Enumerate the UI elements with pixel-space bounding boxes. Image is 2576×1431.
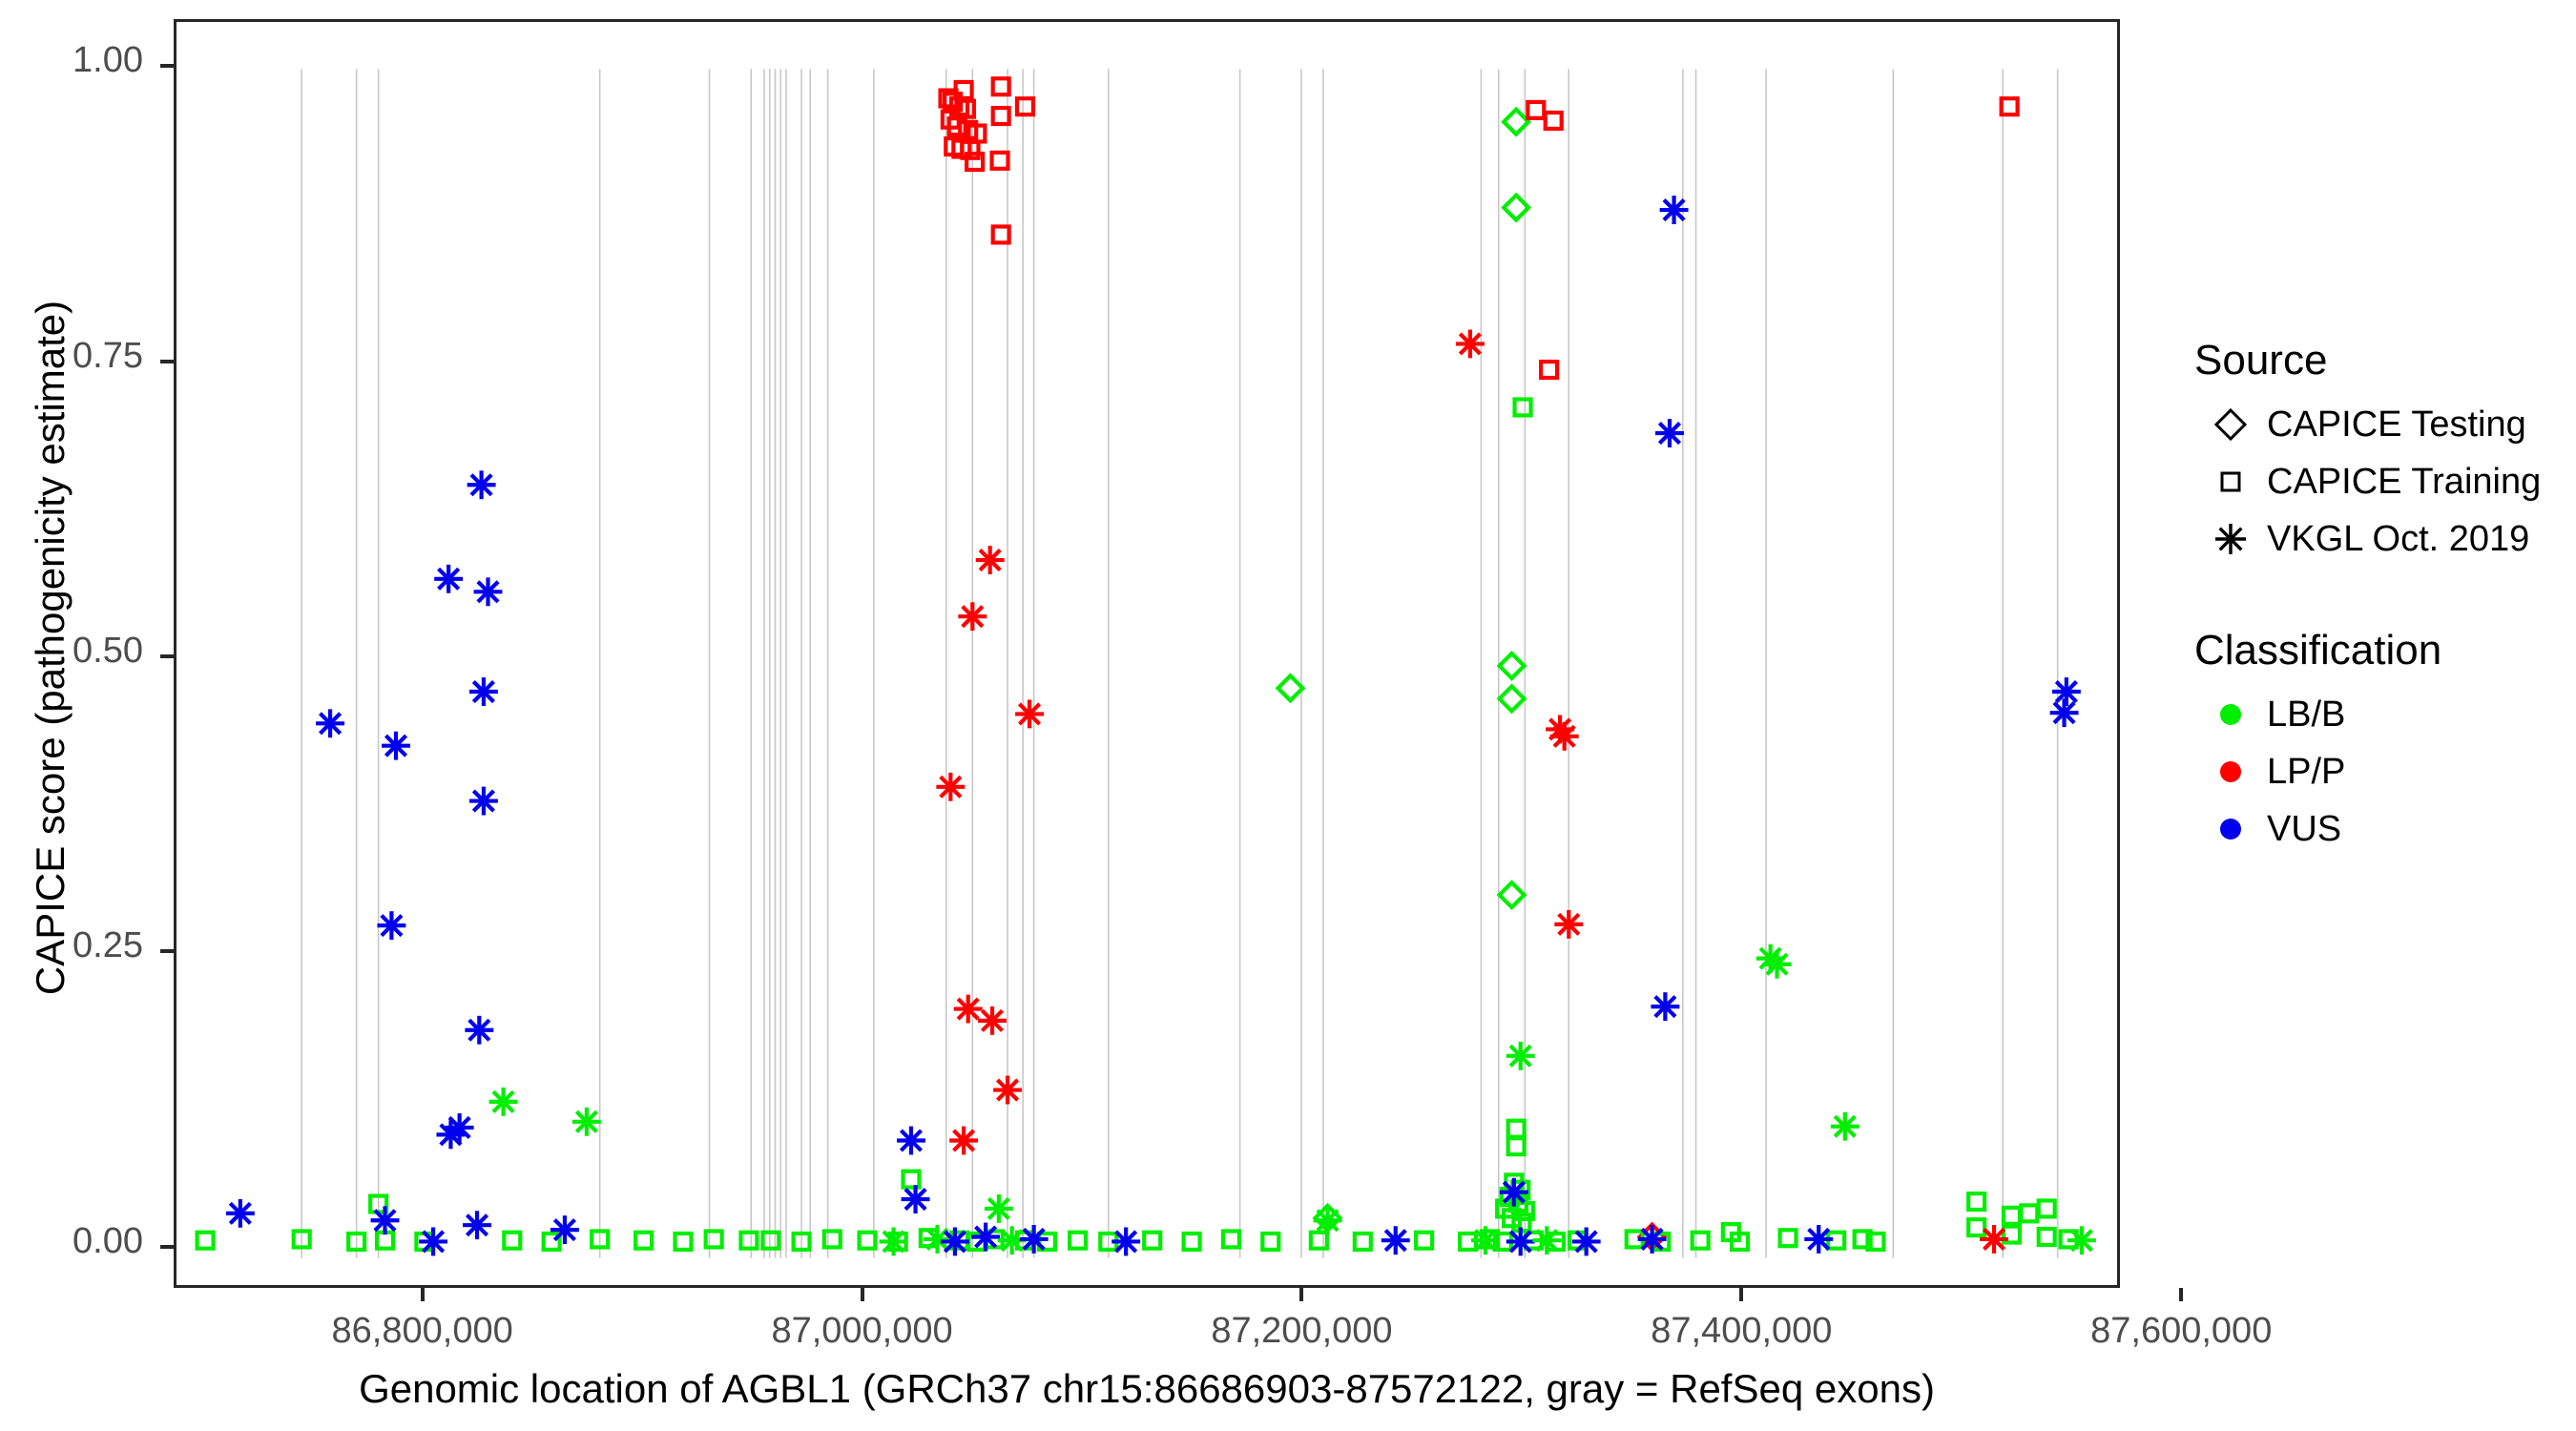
point-square (993, 226, 1009, 242)
point-square (1515, 400, 1531, 416)
legend-label-lb-b: LB/B (2267, 695, 2345, 736)
point-square (762, 1233, 779, 1249)
lp-p-color-dot-icon (2194, 751, 2267, 793)
point-square (635, 1233, 652, 1249)
point-square (1693, 1233, 1709, 1249)
point-square (740, 1233, 757, 1249)
legend: Source CAPICE Testing CAPICE Training (2194, 339, 2566, 919)
point-square (2021, 1205, 2037, 1221)
legend-group-classification: Classification LB/B LP/P VUS (2194, 629, 2566, 858)
y-tick-mark (160, 1245, 174, 1249)
y-tick-mark (160, 949, 174, 953)
point-diamond (1500, 653, 1525, 678)
asterisk-icon (2194, 518, 2267, 560)
scatter-plot-svg (177, 22, 2117, 1285)
legend-item-vkgl[interactable]: VKGL Oct. 2019 (2194, 510, 2566, 568)
point-square (1355, 1234, 1371, 1250)
point-square (1070, 1233, 1086, 1249)
point-square (860, 1233, 876, 1249)
point-diamond (1500, 882, 1525, 907)
legend-item-capice-testing[interactable]: CAPICE Testing (2194, 396, 2566, 453)
y-tick-label: 0.50 (0, 631, 143, 672)
legend-group-source: Source CAPICE Testing CAPICE Training (2194, 339, 2566, 568)
point-square (1017, 98, 1033, 114)
point-square (1968, 1219, 1984, 1235)
square-icon (2194, 461, 2267, 503)
point-square (2002, 98, 2018, 114)
plot-panel (174, 19, 2120, 1288)
point-square (197, 1233, 214, 1249)
y-tick-label: 0.00 (0, 1221, 143, 1262)
legend-label-vkgl: VKGL Oct. 2019 (2267, 519, 2529, 560)
x-axis-title: Genomic location of AGBL1 (GRCh37 chr15:… (174, 1366, 2120, 1412)
point-square (1144, 1233, 1160, 1249)
series-diamond (1278, 110, 1665, 1250)
x-tick-mark (421, 1288, 425, 1301)
x-tick-label: 87,400,000 (1651, 1311, 1832, 1352)
y-tick-label: 0.75 (0, 336, 143, 377)
x-tick-mark (1299, 1288, 1303, 1301)
legend-label-lp-p: LP/P (2267, 752, 2345, 793)
x-tick-label: 86,800,000 (332, 1311, 513, 1352)
legend-item-lp-p[interactable]: LP/P (2194, 743, 2566, 800)
point-square (377, 1233, 393, 1249)
point-square (824, 1232, 841, 1248)
point-square (1541, 362, 1557, 378)
legend-label-capice-training: CAPICE Training (2267, 462, 2541, 503)
point-square (993, 78, 1009, 94)
point-square (2004, 1208, 2020, 1224)
point-square (675, 1234, 692, 1250)
point-square (706, 1232, 722, 1248)
point-square (504, 1233, 520, 1249)
point-square (1262, 1234, 1278, 1250)
y-tick-label: 1.00 (0, 40, 143, 81)
point-square (2039, 1200, 2055, 1216)
point-square (1184, 1234, 1200, 1250)
point-square (992, 153, 1008, 169)
point-square (993, 108, 1009, 124)
point-square (1546, 113, 1562, 129)
x-tick-mark (1739, 1288, 1743, 1301)
point-square (1311, 1233, 1327, 1249)
point-diamond (1278, 675, 1303, 700)
point-square (1508, 1121, 1525, 1137)
point-square (1416, 1233, 1432, 1249)
point-square (1527, 102, 1544, 118)
diamond-icon (2194, 404, 2267, 446)
y-tick-mark (160, 360, 174, 363)
legend-label-vus: VUS (2267, 809, 2341, 850)
legend-item-capice-training[interactable]: CAPICE Training (2194, 453, 2566, 510)
x-tick-mark (2179, 1288, 2183, 1301)
point-square (1223, 1232, 1239, 1248)
point-square (2039, 1229, 2055, 1245)
legend-label-capice-testing: CAPICE Testing (2267, 404, 2526, 446)
legend-title-source: Source (2194, 339, 2566, 383)
y-tick-mark (160, 64, 174, 68)
legend-item-lb-b[interactable]: LB/B (2194, 686, 2566, 743)
y-tick-label: 0.25 (0, 925, 143, 966)
point-square (1508, 1138, 1525, 1154)
x-tick-label: 87,600,000 (2090, 1311, 2272, 1352)
point-diamond (1500, 686, 1525, 711)
point-square (1968, 1193, 1984, 1210)
exon-lines (301, 69, 2057, 1257)
point-square (1780, 1230, 1797, 1246)
x-tick-label: 87,000,000 (771, 1311, 952, 1352)
legend-item-vus[interactable]: VUS (2194, 800, 2566, 858)
y-tick-mark (160, 654, 174, 658)
x-tick-mark (861, 1288, 864, 1301)
x-tick-label: 87,200,000 (1211, 1311, 1392, 1352)
point-square (903, 1172, 919, 1188)
series-square (197, 78, 2077, 1250)
vus-color-dot-icon (2194, 808, 2267, 850)
lb-b-color-dot-icon (2194, 694, 2267, 736)
chart-root: CAPICE score (pathogenicity estimate) 0.… (0, 0, 2576, 1431)
legend-title-classification: Classification (2194, 629, 2566, 673)
series-asterisk (226, 196, 2096, 1255)
